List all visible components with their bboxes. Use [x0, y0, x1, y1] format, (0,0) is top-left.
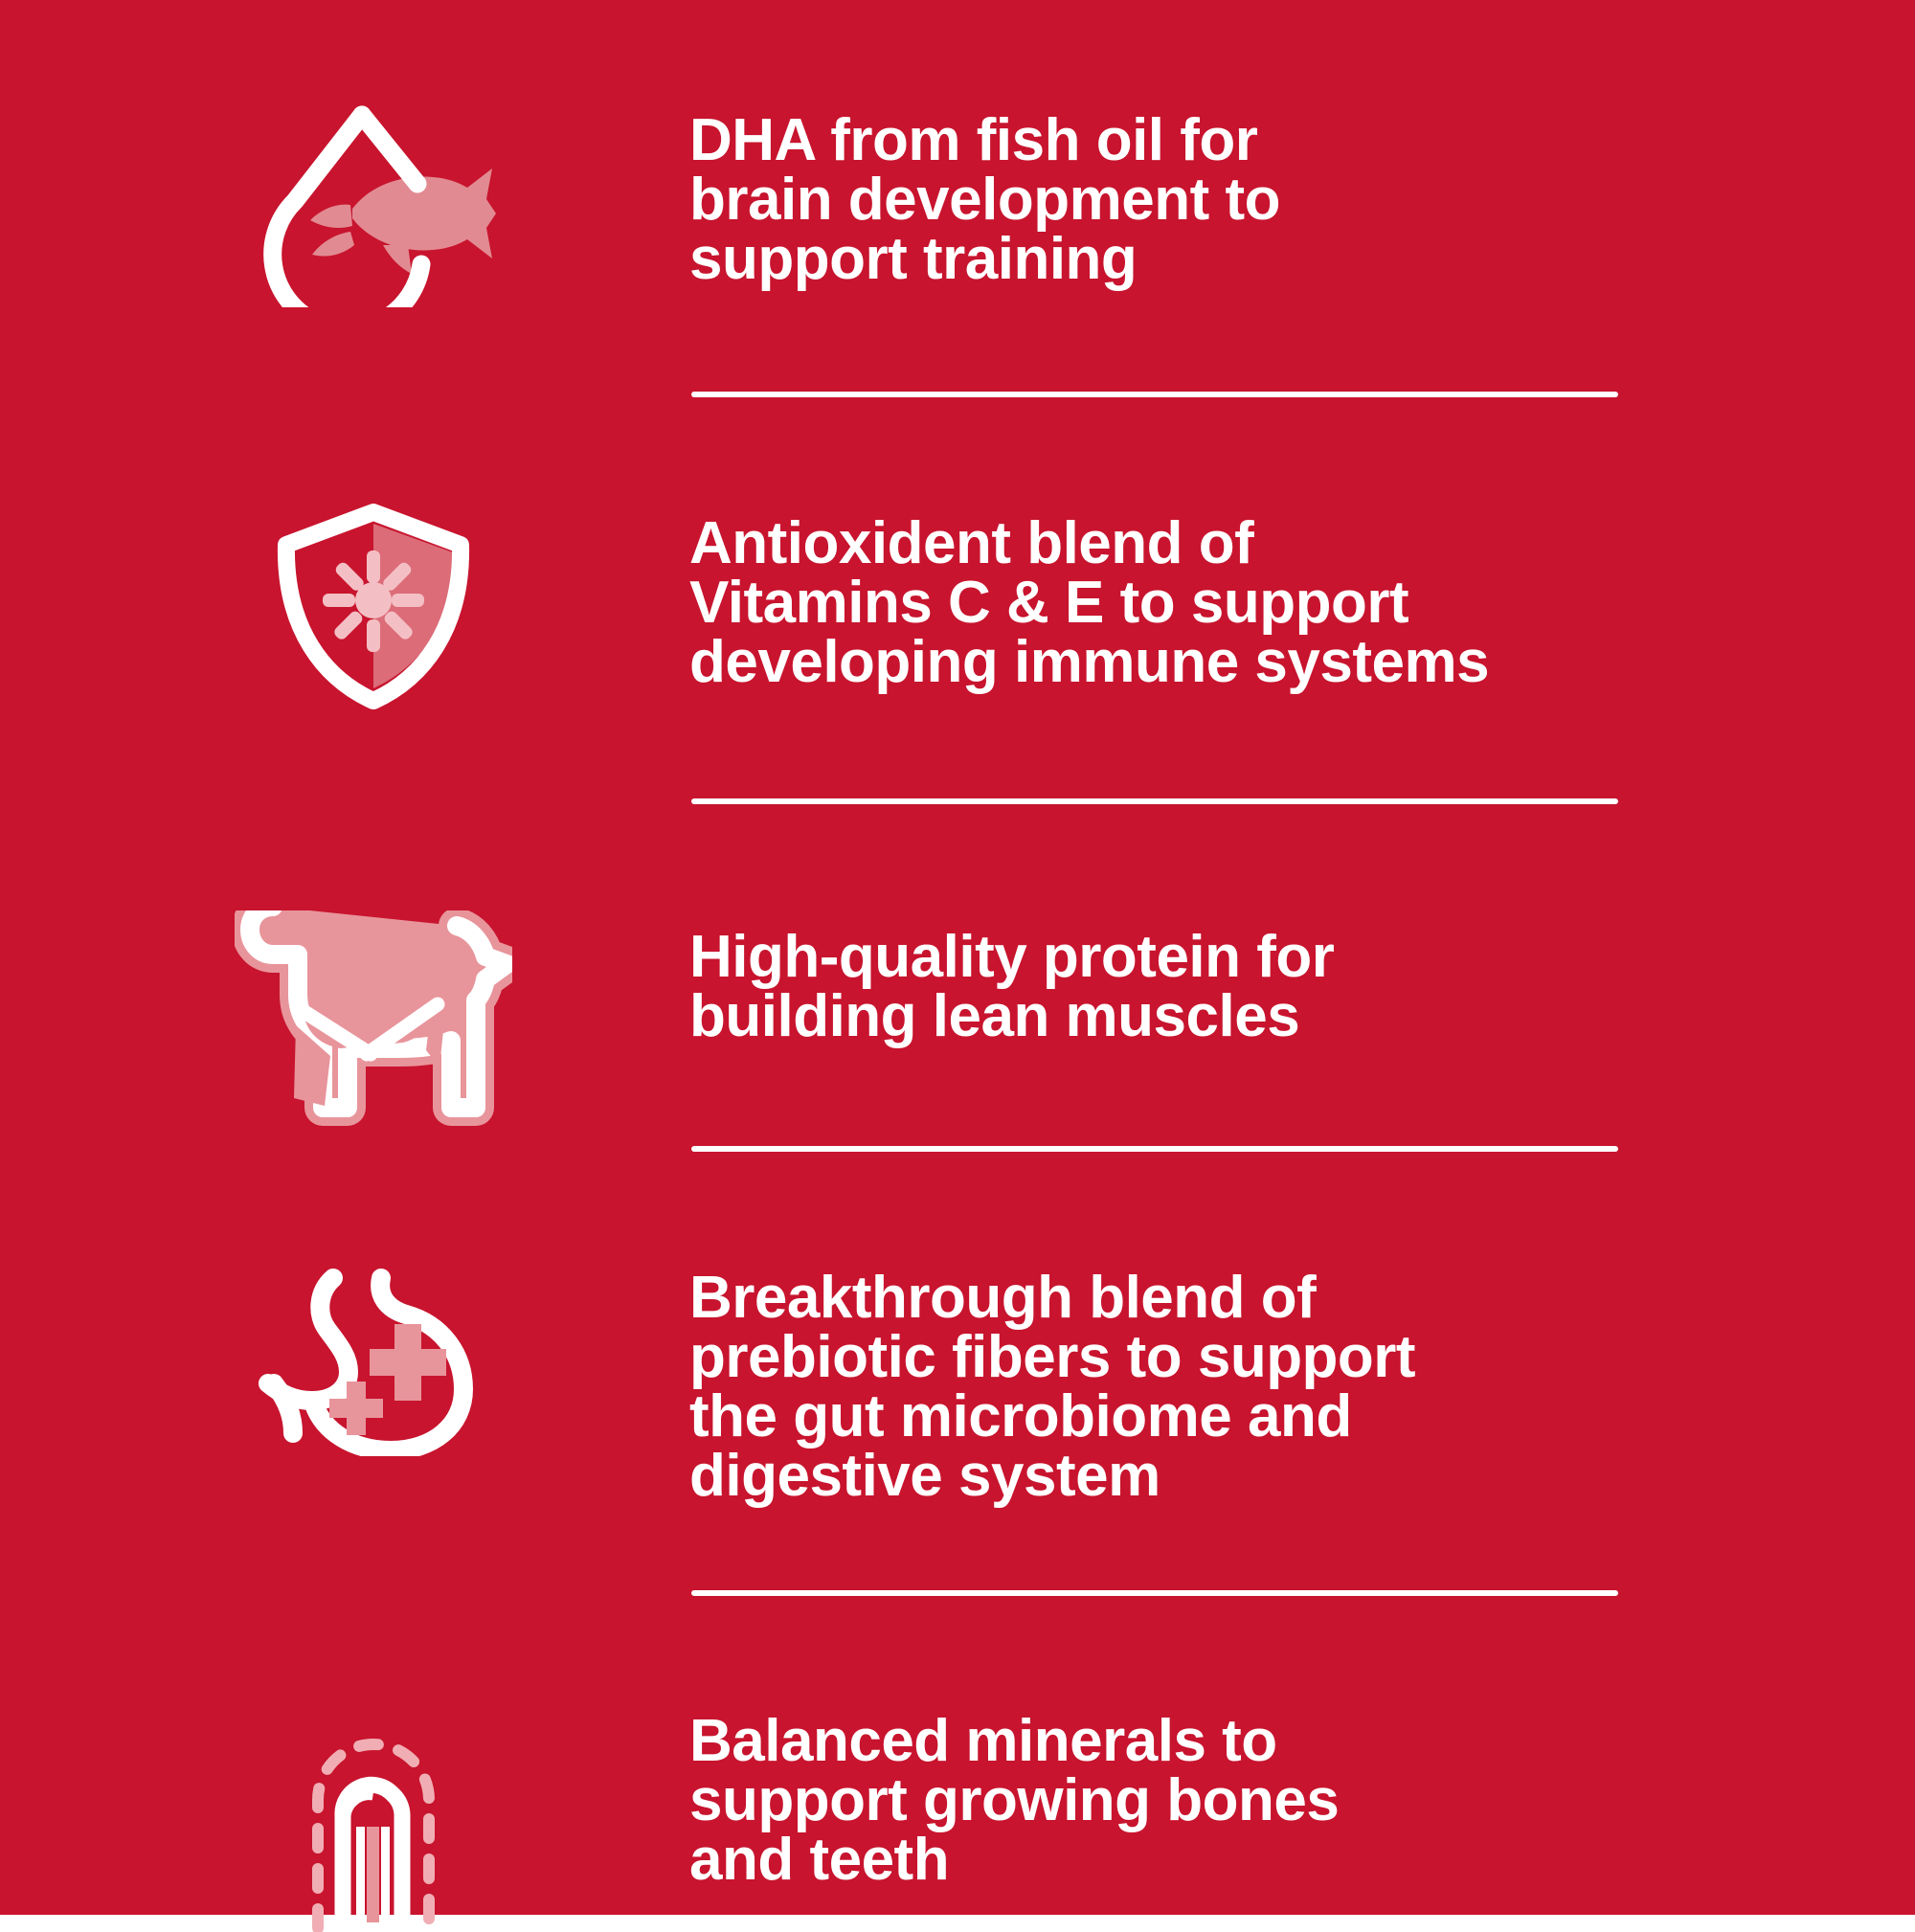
stomach-plus-icon — [0, 1249, 689, 1456]
benefit-text-cell: High-quality protein for building lean m… — [689, 901, 1915, 1046]
benefits-panel: DHA from fish oil for brain development … — [0, 0, 1915, 1915]
benefit-row: DHA from fish oil for brain development … — [0, 92, 1915, 307]
benefit-text: High-quality protein for building lean m… — [689, 928, 1628, 1046]
benefit-text: Breakthrough blend of prebiotic fibers t… — [689, 1269, 1628, 1506]
row-gap — [0, 1062, 1915, 1146]
benefit-text-cell: Balanced minerals to support growing bon… — [689, 1693, 1915, 1890]
benefit-row: Breakthrough blend of prebiotic fibers t… — [0, 1249, 1915, 1506]
benefit-text-cell: Breakthrough blend of prebiotic fibers t… — [689, 1249, 1915, 1506]
benefit-row: High-quality protein for building lean m… — [0, 901, 1915, 1062]
row-gap — [0, 1596, 1915, 1693]
benefit-text: Balanced minerals to support growing bon… — [689, 1712, 1628, 1890]
row-gap — [0, 397, 1915, 494]
benefit-text-cell: Antioxident blend of Vitamins C & E to s… — [689, 495, 1915, 692]
row-gap — [0, 307, 1915, 392]
benefit-text: DHA from fish oil for brain development … — [689, 111, 1628, 289]
row-gap — [0, 714, 1915, 798]
water-droplet-fish-icon — [0, 92, 689, 307]
benefit-row: Balanced minerals to support growing bon… — [0, 1693, 1915, 1915]
benefit-text: Antioxident blend of Vitamins C & E to s… — [689, 514, 1628, 692]
row-gap — [0, 1152, 1915, 1248]
benefit-text-cell: DHA from fish oil for brain development … — [689, 92, 1915, 289]
shield-sunburst-icon — [0, 495, 689, 714]
benefit-list: DHA from fish oil for brain development … — [0, 0, 1915, 1915]
row-gap — [0, 804, 1915, 901]
row-gap — [0, 1506, 1915, 1590]
benefit-row: Antioxident blend of Vitamins C & E to s… — [0, 495, 1915, 714]
bone-dashed-icon — [0, 1693, 689, 1932]
